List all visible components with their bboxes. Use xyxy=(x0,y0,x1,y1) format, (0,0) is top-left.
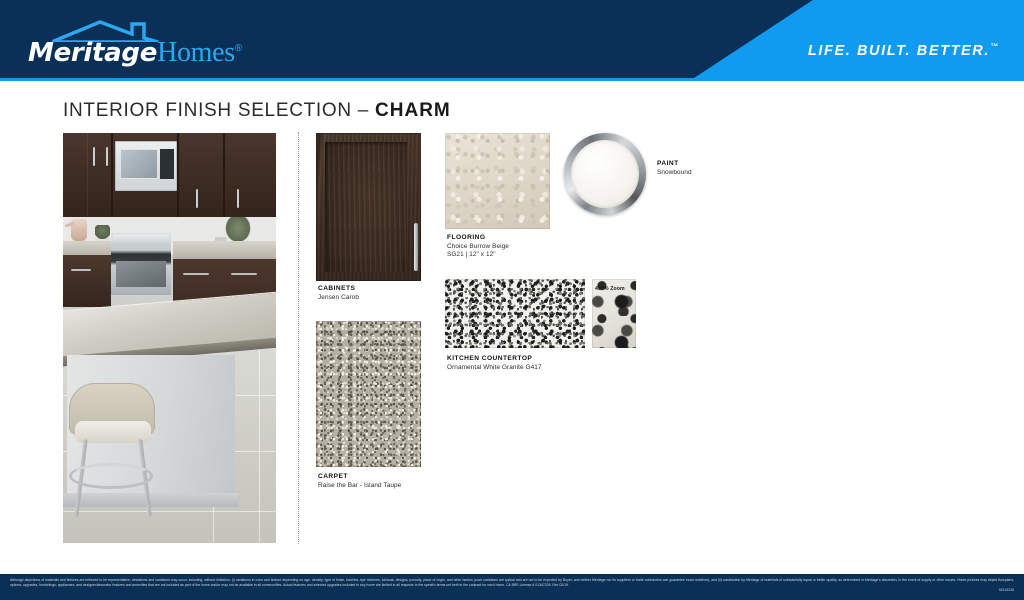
photo-cabinet-handle xyxy=(106,147,108,166)
brand-tagline: LIFE. BUILT. BETTER.™ xyxy=(808,42,998,59)
photo-drawer-handle xyxy=(71,269,91,271)
cabinet-swatch-handle xyxy=(414,223,418,271)
page-title: INTERIOR FINISH SELECTION – CHARM xyxy=(63,100,451,122)
carpet-label-group: CARPET Raise the Bar - Island Taupe xyxy=(318,473,401,490)
photo-cabinet-seam xyxy=(177,133,179,217)
logo-meritage-text: Meritage xyxy=(28,38,157,68)
photo-cabinet-handle xyxy=(196,189,198,208)
photo-cabinet-handle xyxy=(237,189,239,208)
photo-island-baseboard xyxy=(63,493,239,507)
photo-tile-grout xyxy=(63,511,276,512)
logo-homes-text: Homes xyxy=(157,37,235,68)
flooring-label-detail: Choice Burrow Beige xyxy=(447,243,509,252)
photo-microwave-door xyxy=(120,149,158,179)
cabinets-label-detail: Jensen Carob xyxy=(318,294,359,303)
header-underline xyxy=(0,78,1024,81)
page-title-emphasis: CHARM xyxy=(375,100,451,121)
countertop-swatch[interactable] xyxy=(445,279,585,348)
photo-drawer-handle xyxy=(231,273,257,275)
flooring-label-group: FLOORING Choice Burrow Beige SG21 | 12" … xyxy=(447,234,509,260)
flooring-label-spec: SG21 | 12" x 12" xyxy=(447,251,509,260)
cabinets-label-group: CABINETS Jensen Carob xyxy=(318,285,359,302)
kitchen-interior-photo xyxy=(63,133,276,543)
countertop-label-group: KITCHEN COUNTERTOP Ornamental White Gran… xyxy=(447,355,542,372)
photo-cabinet-seam xyxy=(111,133,113,217)
page-header: MeritageHomes® LIFE. BUILT. BETTER.™ xyxy=(0,0,1024,78)
carpet-label-detail: Raise the Bar - Island Taupe xyxy=(318,482,401,491)
paint-label-group: PAINT Snowbound xyxy=(657,160,692,177)
paint-swatch-color xyxy=(571,140,639,208)
photo-tile-grout xyxy=(259,339,260,543)
page-title-prefix: INTERIOR FINISH SELECTION – xyxy=(63,100,375,121)
photo-range-controls xyxy=(113,235,169,246)
header-diagonal-accent xyxy=(694,0,1024,78)
flooring-label-title: FLOORING xyxy=(447,234,509,241)
cabinets-label-title: CABINETS xyxy=(318,285,359,292)
paint-swatch[interactable] xyxy=(564,133,646,215)
tagline-trademark: ™ xyxy=(990,42,998,51)
meritage-homes-logo: MeritageHomes® xyxy=(28,20,258,66)
tagline-text: LIFE. BUILT. BETTER. xyxy=(808,43,990,59)
carpet-swatch[interactable] xyxy=(316,321,421,467)
photo-counter-right xyxy=(173,241,276,259)
photo-counter-left xyxy=(63,241,115,255)
photo-drawer-handle xyxy=(183,273,209,275)
footer-document-code: 02141226 xyxy=(10,588,1014,593)
paint-label-detail: Snowbound xyxy=(657,169,692,178)
flooring-swatch[interactable] xyxy=(445,133,550,229)
cabinet-swatch[interactable] xyxy=(316,133,421,281)
photo-oven-window xyxy=(116,261,166,287)
photo-cabinet-edge xyxy=(87,133,88,217)
photo-stool-footrest xyxy=(69,463,153,489)
vertical-divider xyxy=(298,132,299,544)
logo-wordmark: MeritageHomes® xyxy=(28,34,242,68)
cabinet-swatch-panel xyxy=(325,142,407,272)
photo-microwave-panel xyxy=(160,149,174,179)
paint-label-title: PAINT xyxy=(657,160,692,167)
logo-registered-mark: ® xyxy=(235,43,242,54)
page-footer: Although depictions of materials and fin… xyxy=(0,574,1024,600)
photo-cabinet-seam xyxy=(223,133,225,217)
photo-lower-cabinets-left xyxy=(63,255,111,307)
photo-cabinet-handle xyxy=(93,147,95,166)
countertop-label-detail: Ornamental White Granite G417 xyxy=(447,364,542,373)
carpet-label-title: CARPET xyxy=(318,473,401,480)
photo-potted-plant xyxy=(95,225,110,242)
countertop-label-title: KITCHEN COUNTERTOP xyxy=(447,355,542,362)
footer-disclaimer: Although depictions of materials and fin… xyxy=(10,578,1014,587)
zoom-magnification-label: 400% Zoom xyxy=(595,286,625,292)
